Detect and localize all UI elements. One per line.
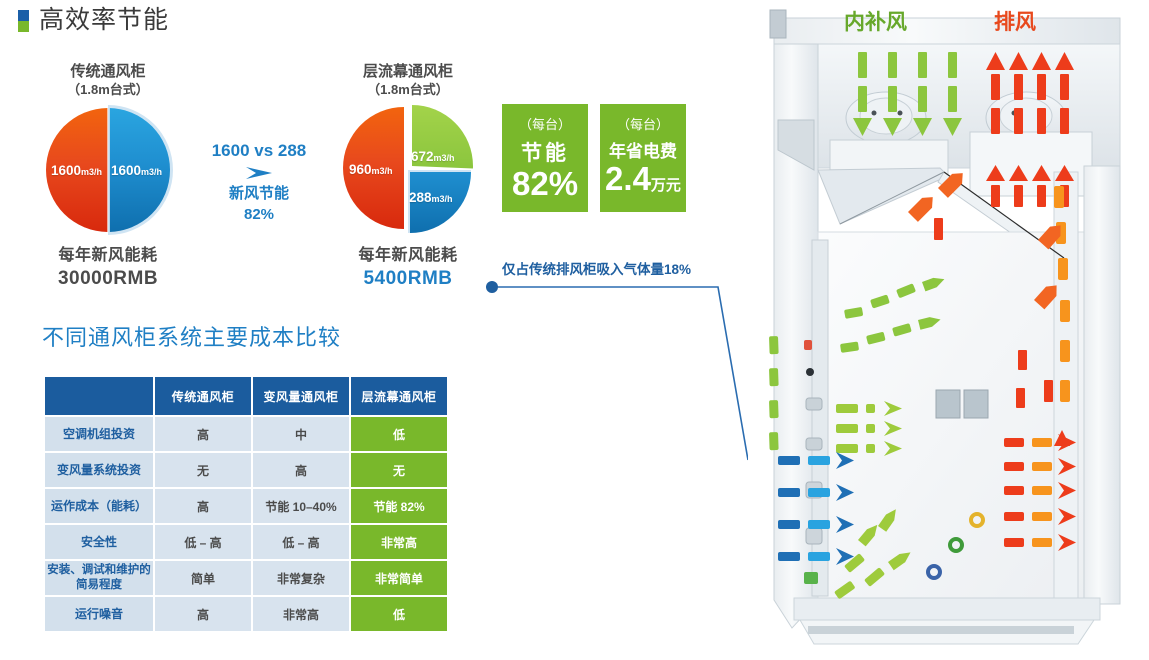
table-row: 安装、调试和维护的简易程度 简单 非常复杂 非常简单 <box>45 561 447 595</box>
table-cell: 简单 <box>155 561 251 595</box>
table-col-header-1: 传统通风柜 <box>155 377 251 415</box>
table-row: 运作成本（能耗） 高 节能 10–40% 节能 82% <box>45 489 447 523</box>
table-cell: 非常高 <box>253 597 349 631</box>
table-cell-highlight: 非常简单 <box>351 561 447 595</box>
section-title: 不同通风柜系统主要成本比较 <box>42 320 341 352</box>
pie-spec-laminar: （1.8m台式） <box>328 81 488 99</box>
table-row-label: 变风量系统投资 <box>45 453 153 487</box>
badge-energy-saving-mid: 节能 <box>521 137 569 167</box>
pie-footer-traditional: 每年新风能耗 30000RMB <box>28 245 188 291</box>
table-col-header-0 <box>45 377 153 415</box>
pie-footer-laminar: 每年新风能耗 5400RMB <box>328 245 488 291</box>
pie-footer-value-laminar: 5400RMB <box>328 267 488 291</box>
table-cell-highlight: 节能 82% <box>351 489 447 523</box>
pie-title-laminar: 层流幕通风柜 <box>328 62 488 81</box>
pie-title-traditional: 传统通风柜 <box>28 62 188 81</box>
table-row-label: 空调机组投资 <box>45 417 153 451</box>
badge-energy-saving: （每台） 节能 82% <box>502 104 588 212</box>
page-title: 高效率节能 <box>39 8 169 33</box>
table-cell: 中 <box>253 417 349 451</box>
pie-caption-laminar: 层流幕通风柜 （1.8m台式） <box>328 62 488 99</box>
table-cell: 无 <box>155 453 251 487</box>
label-supply-air: 内补风 <box>844 6 907 36</box>
pie-footer-label-traditional: 每年新风能耗 <box>28 245 188 267</box>
table-cell-highlight: 低 <box>351 597 447 631</box>
pie-spec-traditional: （1.8m台式） <box>28 81 188 99</box>
header-mark-icon <box>18 10 29 32</box>
table-cell: 高 <box>253 453 349 487</box>
table-cell-highlight: 低 <box>351 417 447 451</box>
table-cell-highlight: 非常高 <box>351 525 447 559</box>
comparison-sub-line1: 新风节能 <box>196 183 322 204</box>
pie-caption-traditional: 传统通风柜 （1.8m台式） <box>28 62 188 99</box>
fume-hood-diagram <box>748 0 1149 660</box>
pie-chart-laminar: 960m3/h 672m3/h 288m3/h <box>343 105 473 235</box>
chevron-right-icon <box>244 165 274 181</box>
badge-cost-saving-top: （每台） <box>617 114 669 133</box>
pie-footer-label-laminar: 每年新风能耗 <box>328 245 488 267</box>
interior-supply-jets <box>836 401 902 456</box>
cost-comparison-table: 传统通风柜 变风量通风柜 层流幕通风柜 空调机组投资 高 中 低 变风量系统投资… <box>43 375 449 633</box>
pie-footer-value-traditional: 30000RMB <box>28 267 188 291</box>
label-exhaust-air: 排风 <box>994 6 1036 36</box>
badge-cost-saving: （每台） 年省电费 2.4万元 <box>600 104 686 212</box>
table-row-label: 安装、调试和维护的简易程度 <box>45 561 153 595</box>
table-row-label: 安全性 <box>45 525 153 559</box>
table-row-label: 运行噪音 <box>45 597 153 631</box>
comparison-summary: 1600 vs 288 新风节能 82% <box>196 140 322 225</box>
badge-energy-saving-value: 82% <box>512 165 578 203</box>
table-row: 运行噪音 高 非常高 低 <box>45 597 447 631</box>
table-cell: 非常复杂 <box>253 561 349 595</box>
table-cell: 低 – 高 <box>155 525 251 559</box>
table-cell: 节能 10–40% <box>253 489 349 523</box>
table-col-header-3: 层流幕通风柜 <box>351 377 447 415</box>
badge-cost-saving-mid: 年省电费 <box>609 137 677 162</box>
table-cell: 高 <box>155 417 251 451</box>
pie-label-288: 288m3/h <box>409 189 453 207</box>
badge-cost-saving-value: 2.4万元 <box>605 160 681 205</box>
pie-label-supply-traditional: 1600m3/h <box>111 162 162 180</box>
table-cell-highlight: 无 <box>351 453 447 487</box>
table-cell: 高 <box>155 489 251 523</box>
table-row: 空调机组投资 高 中 低 <box>45 417 447 451</box>
comparison-headline: 1600 vs 288 <box>196 140 322 162</box>
table-cell: 低 – 高 <box>253 525 349 559</box>
pie-label-960: 960m3/h <box>349 161 393 179</box>
pie-label-672: 672m3/h <box>411 148 455 166</box>
page-header: 高效率节能 <box>18 8 169 33</box>
infographic-page: 高效率节能 传统通风柜 （1.8m台式） 1600m3/h 1600m3/h 每… <box>0 0 1149 660</box>
table-header-row: 传统通风柜 变风量通风柜 层流幕通风柜 <box>45 377 447 415</box>
pie-block-laminar: 层流幕通风柜 （1.8m台式） 960m3/h 672m3/h 288m3/h … <box>328 62 488 291</box>
pie-label-exhaust-traditional: 1600m3/h <box>51 162 102 180</box>
callout-dot-icon <box>486 281 498 293</box>
table-row-label: 运作成本（能耗） <box>45 489 153 523</box>
table-cell: 高 <box>155 597 251 631</box>
fume-hood-illustration: 内补风 排风 室内 新风 <box>748 0 1149 660</box>
table-row: 安全性 低 – 高 低 – 高 非常高 <box>45 525 447 559</box>
table-row: 变风量系统投资 无 高 无 <box>45 453 447 487</box>
badge-energy-saving-top: （每台） <box>519 114 571 133</box>
table-col-header-2: 变风量通风柜 <box>253 377 349 415</box>
pie-block-traditional: 传统通风柜 （1.8m台式） 1600m3/h 1600m3/h 每年新风能耗 … <box>28 62 188 291</box>
callout-connector <box>480 275 760 480</box>
pie-chart-traditional: 1600m3/h 1600m3/h <box>43 105 173 235</box>
comparison-sub-line2: 82% <box>196 204 322 225</box>
